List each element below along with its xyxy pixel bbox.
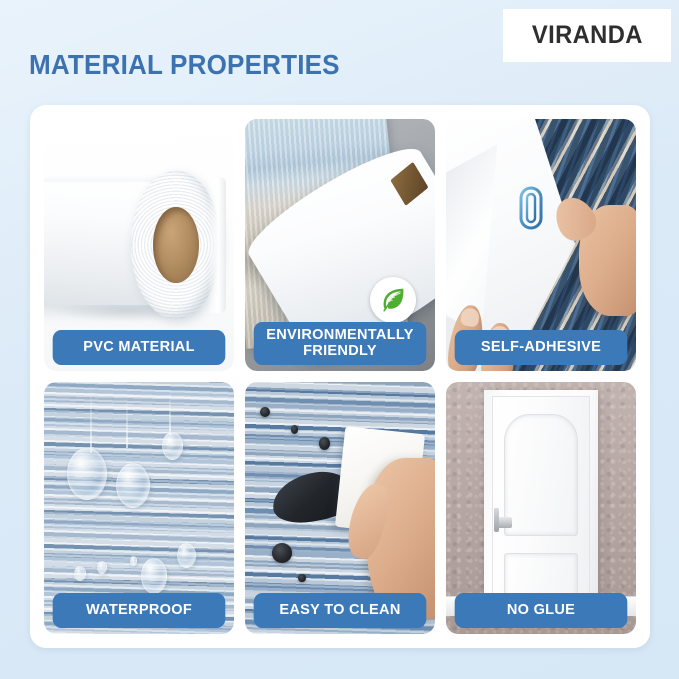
page-title: MATERIAL PROPERTIES [29, 49, 340, 81]
brand-logo: VIRANDA [503, 9, 671, 62]
stain-spot [298, 574, 306, 583]
stain-spot [291, 425, 299, 434]
features-card: PVC MATERIAL [30, 105, 650, 648]
feature-tile-self-adhesive[interactable]: SELF-ADHESIVE [446, 119, 636, 371]
feature-label-line2: FRIENDLY [256, 343, 425, 359]
water-droplet [97, 561, 107, 574]
feature-label-line1: ENVIRONMENTALLY [256, 327, 425, 343]
feature-label-waterproof: WATERPROOF [53, 593, 226, 628]
brand-logo-text: VIRANDA [532, 21, 643, 50]
roll-core-icon [153, 207, 199, 283]
drop-trail [169, 390, 171, 435]
leaf-icon [370, 277, 416, 323]
stain-spot [319, 437, 330, 450]
water-droplet [67, 448, 107, 501]
feature-label-no-glue: NO GLUE [455, 593, 628, 628]
water-droplet [116, 463, 150, 508]
feature-tile-no-glue[interactable]: NO GLUE [446, 382, 636, 634]
feature-label-pvc-material: PVC MATERIAL [53, 330, 226, 365]
water-droplet [130, 556, 138, 566]
water-droplet [141, 558, 168, 593]
feature-tile-pvc-material[interactable]: PVC MATERIAL [44, 119, 234, 371]
water-droplet [74, 566, 85, 581]
feature-label-self-adhesive: SELF-ADHESIVE [455, 330, 628, 365]
stain-spot [260, 407, 270, 417]
door-handle [496, 517, 512, 528]
door-panel-top [504, 414, 579, 536]
drop-trail [126, 397, 128, 447]
water-droplet [162, 432, 183, 460]
feature-label-easy-to-clean: EASY TO CLEAN [254, 593, 427, 628]
page-header: MATERIAL PROPERTIES VIRANDA [0, 0, 679, 100]
feature-label-environmentally-friendly: ENVIRONMENTALLY FRIENDLY [254, 322, 427, 365]
feature-tile-environmentally-friendly[interactable]: ENVIRONMENTALLY FRIENDLY [245, 119, 435, 371]
drop-trail [90, 387, 92, 453]
feature-tile-easy-to-clean[interactable]: EASY TO CLEAN [245, 382, 435, 634]
door-frame [484, 390, 598, 612]
door-leaf [492, 396, 590, 609]
feature-tile-waterproof[interactable]: WATERPROOF [44, 382, 234, 634]
features-grid: PVC MATERIAL [44, 119, 636, 634]
stain-spot [272, 543, 293, 563]
fingernail [460, 308, 481, 329]
paperclip-icon [518, 185, 544, 231]
roll-sheet-edge [207, 177, 226, 313]
water-droplet [177, 543, 196, 568]
